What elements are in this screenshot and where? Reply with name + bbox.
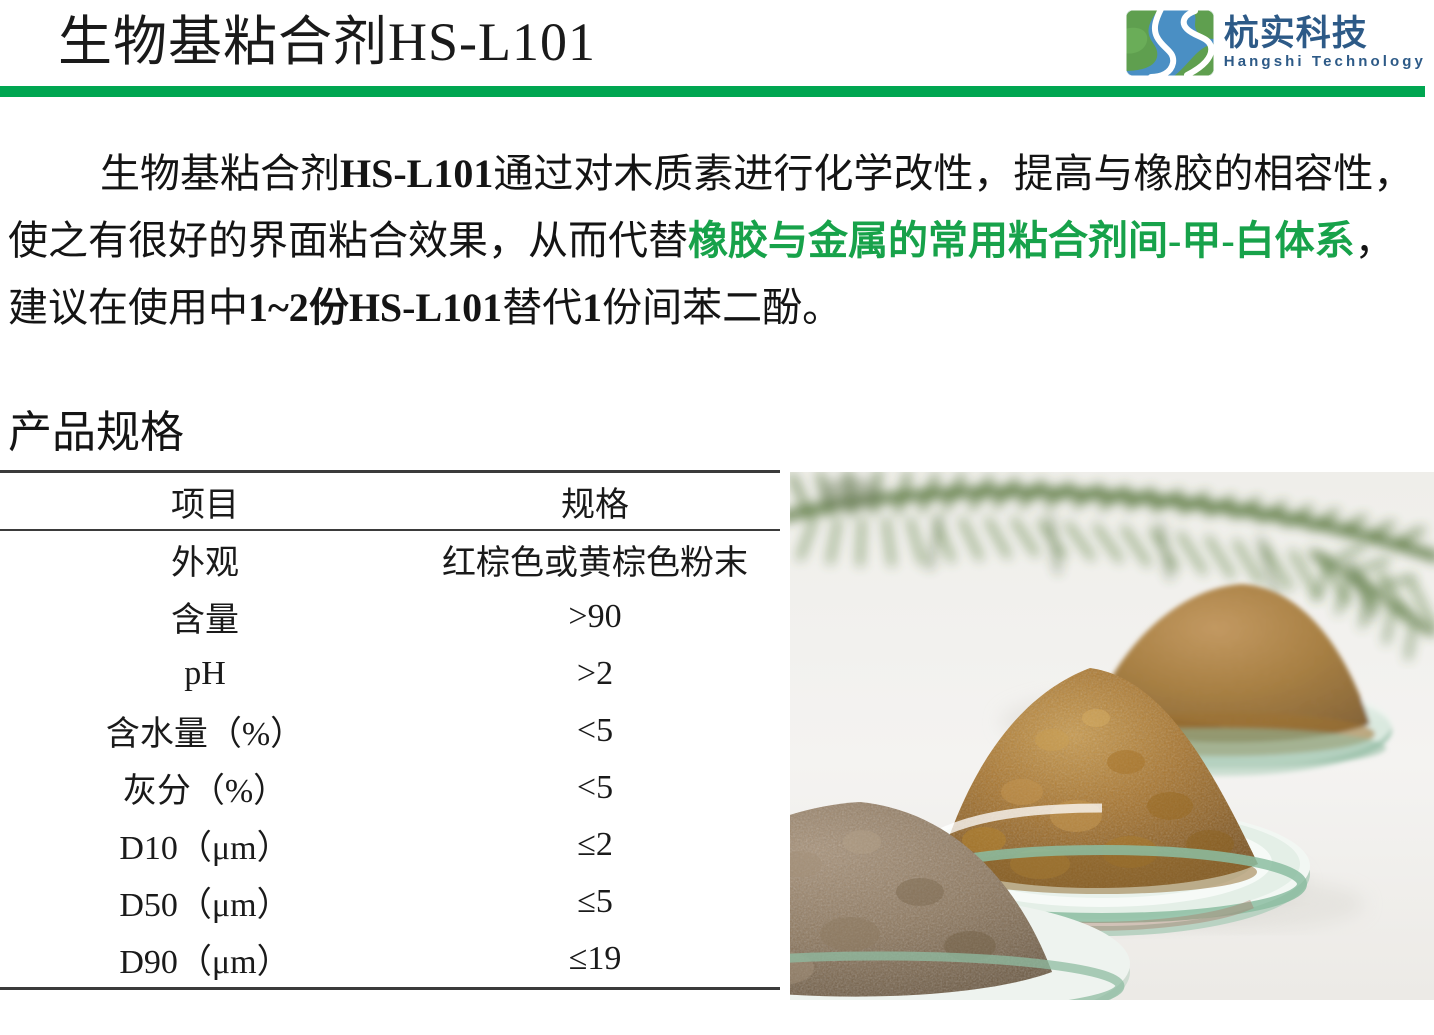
intro-l1-part-c: 通过对木质素进行化学改性，提高与橡胶的相容性，: [493, 151, 1413, 196]
cell-item: D10（μm）: [0, 816, 410, 873]
intro-l2-part-b: ，: [1355, 218, 1395, 263]
logo-wordmark: 杭实科技 Hangshi Technology: [1224, 15, 1426, 72]
product-spec-table: 项目 规格 外观 红棕色或黄棕色粉末 含量 >90 pH >2 含水量（%） <…: [0, 470, 780, 990]
header-divider: [0, 86, 1425, 97]
cell-item: pH: [0, 645, 410, 702]
intro-line-3: 建议在使用中1~2份HS-L101替代1份间苯二酚。: [8, 274, 1426, 341]
table-row: 外观 红棕色或黄棕色粉末: [0, 530, 780, 588]
company-logo: 杭实科技 Hangshi Technology: [1125, 9, 1426, 77]
intro-l2-highlight: 橡胶与金属的常用粘合剂间-甲-白体系: [688, 218, 1355, 263]
company-name-cn: 杭实科技: [1224, 15, 1426, 52]
cell-spec: >2: [410, 645, 780, 702]
cell-spec: 红棕色或黄棕色粉末: [410, 530, 780, 588]
intro-l3-dosage: 1~2: [248, 285, 309, 330]
cell-spec: <5: [410, 759, 780, 816]
cell-item: D90（μm）: [0, 930, 410, 989]
intro-line-2: 使之有很好的界面粘合效果，从而代替橡胶与金属的常用粘合剂间-甲-白体系，: [8, 207, 1426, 274]
company-name-en: Hangshi Technology: [1224, 52, 1426, 72]
cell-spec: ≤19: [410, 930, 780, 989]
lignin-powder-photo: [790, 472, 1434, 1000]
cell-spec: ≤5: [410, 873, 780, 930]
cell-item: 含水量（%）: [0, 702, 410, 759]
cell-spec: ≤2: [410, 816, 780, 873]
table-header-row: 项目 规格: [0, 472, 780, 531]
hangshi-logo-mark-icon: [1125, 9, 1215, 77]
cell-item: 含量: [0, 588, 410, 645]
cell-item: 灰分（%）: [0, 759, 410, 816]
table-row: pH >2: [0, 645, 780, 702]
table-row: 含水量（%） <5: [0, 702, 780, 759]
cell-spec: >90: [410, 588, 780, 645]
intro-l3-part-g: 份间苯二酚。: [602, 285, 842, 330]
table-row: D50（μm） ≤5: [0, 873, 780, 930]
column-header-item: 项目: [0, 472, 410, 531]
cell-item: 外观: [0, 530, 410, 588]
cell-item: D50（μm）: [0, 873, 410, 930]
intro-l3-part-e: 替代: [502, 285, 582, 330]
table-row: D90（μm） ≤19: [0, 930, 780, 989]
table-row: 含量 >90: [0, 588, 780, 645]
intro-l3-part-a: 建议在使用中: [8, 285, 248, 330]
cell-spec: <5: [410, 702, 780, 759]
intro-l2-part-a: 使之有很好的界面粘合效果，从而代替: [8, 218, 688, 263]
intro-l1-product-code: HS-L101: [340, 151, 493, 196]
intro-l3-product-code: HS-L101: [349, 285, 502, 330]
page-title: 生物基粘合剂HS-L101: [58, 4, 596, 80]
column-header-spec: 规格: [410, 472, 780, 531]
page-header: 生物基粘合剂HS-L101 杭实科技 H: [0, 0, 1434, 96]
intro-l3-unit-1: 份: [309, 285, 349, 330]
spec-section-heading: 产品规格: [8, 405, 184, 461]
table-row: 灰分（%） <5: [0, 759, 780, 816]
intro-paragraph: 生物基粘合剂HS-L101通过对木质素进行化学改性，提高与橡胶的相容性， 使之有…: [8, 140, 1426, 341]
intro-l1-part-a: 生物基粘合剂: [100, 151, 340, 196]
table-row: D10（μm） ≤2: [0, 816, 780, 873]
table-body: 外观 红棕色或黄棕色粉末 含量 >90 pH >2 含水量（%） <5 灰分（%…: [0, 530, 780, 989]
intro-l3-qty: 1: [582, 285, 602, 330]
intro-line-1: 生物基粘合剂HS-L101通过对木质素进行化学改性，提高与橡胶的相容性，: [8, 140, 1426, 207]
photo-illustration: [790, 472, 1434, 1000]
